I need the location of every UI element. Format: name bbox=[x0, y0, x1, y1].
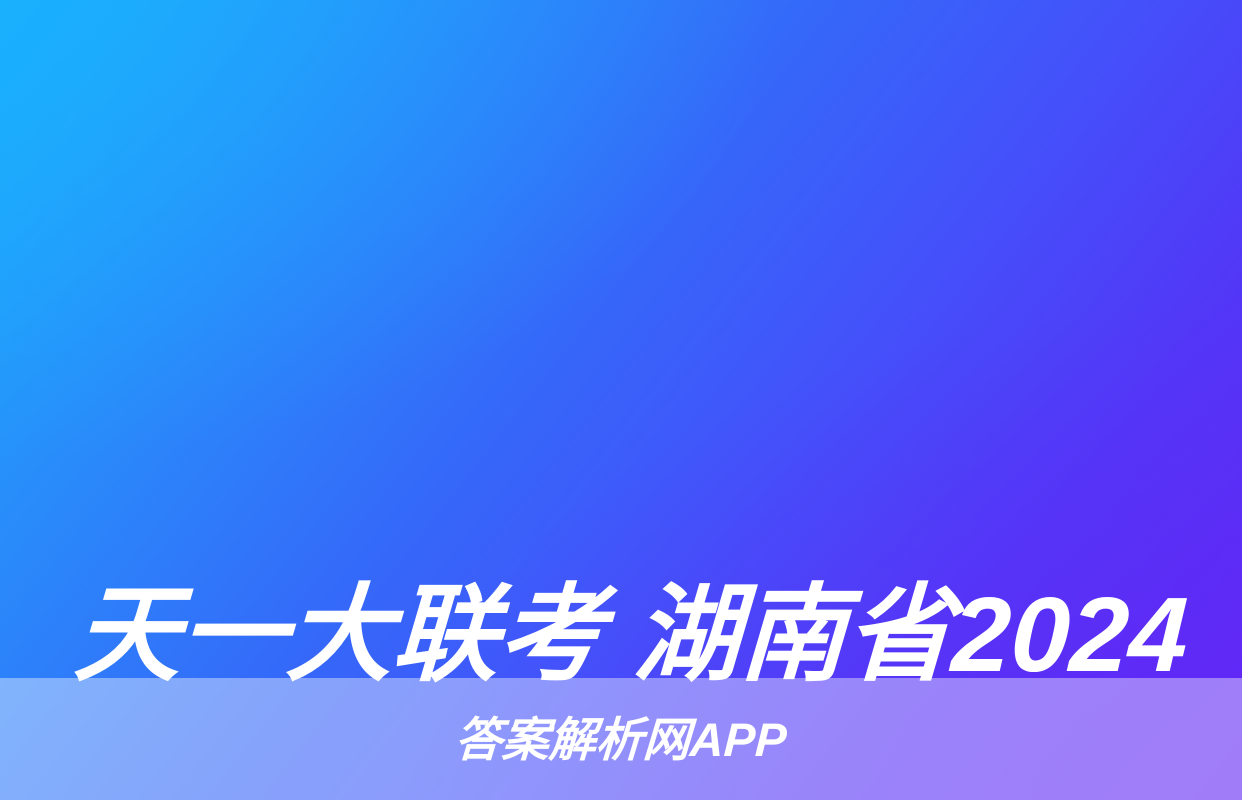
footer-watermark-band: 答案解析网APP bbox=[0, 678, 1242, 800]
poster-canvas: 天一大联考 湖南省2024 届高三3月联考生物答案 答案解析网APP bbox=[0, 0, 1242, 800]
app-watermark-label: 答案解析网APP bbox=[454, 716, 788, 763]
